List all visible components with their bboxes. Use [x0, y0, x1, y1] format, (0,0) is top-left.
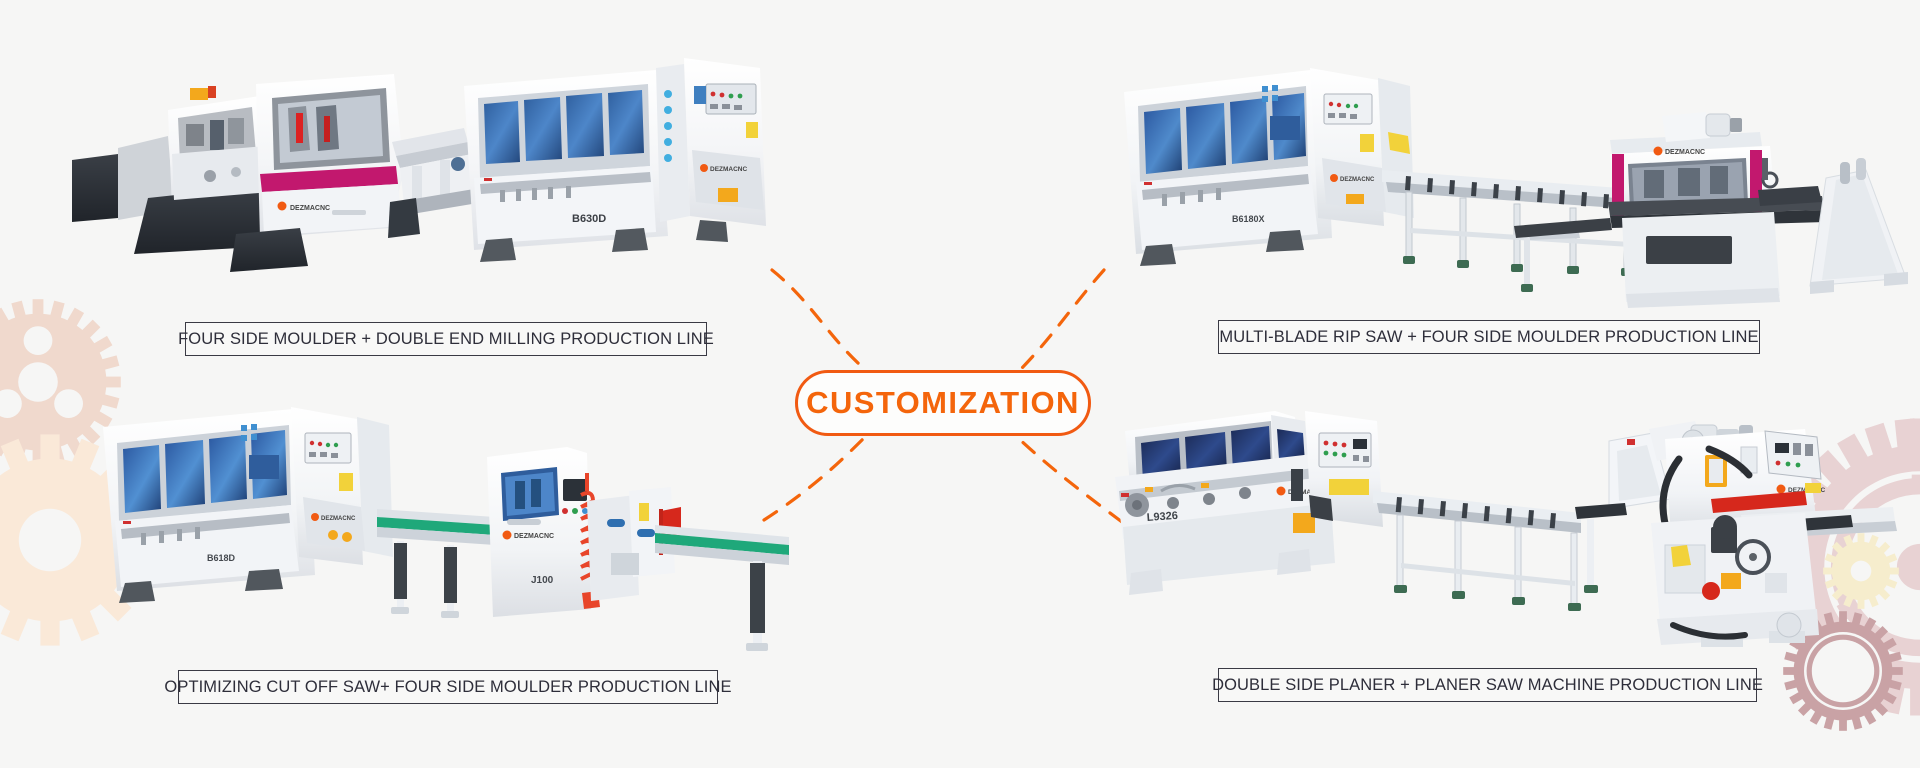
machine-illustration-top-left: DEZMACNC: [60, 50, 780, 315]
caption-label: OPTIMIZING CUT OFF SAW+ FOUR SIDE MOULDE…: [164, 678, 731, 697]
caption-label: DOUBLE SIDE PLANER + PLANER SAW MACHINE …: [1212, 676, 1763, 695]
planer-saw-machine: DEZMACNC: [1609, 421, 1897, 647]
optimizing-cut-off-saw: DEZMACNC J100: [487, 447, 681, 617]
customization-badge[interactable]: CUSTOMIZATION: [795, 370, 1091, 436]
machine-model-label: B6180X: [1232, 214, 1265, 224]
red-knob: [1702, 582, 1720, 600]
connector-top-left: [772, 270, 868, 372]
roller-conveyor: [1373, 491, 1581, 611]
svg-text:DEZMACNC: DEZMACNC: [321, 516, 356, 522]
machine-illustration-bottom-left: B618D DEZMACNC: [95, 395, 795, 660]
double-side-planer: L9326 DEZMACNC: [1115, 411, 1383, 595]
caption-box-top-right[interactable]: MULTI-BLADE RIP SAW + FOUR SIDE MOULDER …: [1218, 320, 1760, 354]
four-side-moulder: B6180X DEZMACNC: [1124, 68, 1414, 266]
four-side-moulder: B630D DEZMACNC: [464, 58, 766, 262]
svg-text:DEZMACNC: DEZMACNC: [1340, 177, 1375, 183]
caption-box-top-left[interactable]: FOUR SIDE MOULDER + DOUBLE END MILLING P…: [185, 322, 707, 356]
svg-text:DEZMACNC: DEZMACNC: [514, 533, 554, 540]
svg-text:DEZMACNC: DEZMACNC: [710, 166, 747, 173]
caption-label: MULTI-BLADE RIP SAW + FOUR SIDE MOULDER …: [1219, 328, 1758, 347]
belt-conveyor-outfeed: [655, 525, 789, 651]
infeed-table: [1575, 503, 1627, 593]
customization-diagram: DEZMACNC: [0, 0, 1920, 768]
machine-illustration-top-right: B6180X DEZMACNC: [1110, 50, 1910, 315]
machine-model-label: J100: [531, 575, 554, 586]
svg-text:DEZMACNC: DEZMACNC: [1665, 149, 1705, 156]
caption-label: FOUR SIDE MOULDER + DOUBLE END MILLING P…: [178, 330, 714, 349]
svg-text:DEZMACNC: DEZMACNC: [290, 205, 330, 212]
a-frame-support-stand: [1810, 158, 1908, 294]
four-side-moulder: B618D DEZMACNC: [103, 407, 393, 603]
double-end-milling-machine: [72, 86, 276, 254]
multi-blade-rip-saw: DEZMACNC: [1514, 112, 1826, 308]
customization-label: CUSTOMIZATION: [806, 385, 1080, 421]
connector-top-right: [1018, 270, 1104, 372]
machine-illustration-bottom-right: L9326 DEZMACNC: [1105, 395, 1905, 660]
machine-model-label: B630D: [572, 213, 606, 225]
caption-box-bottom-left[interactable]: OPTIMIZING CUT OFF SAW+ FOUR SIDE MOULDE…: [178, 670, 718, 704]
belt-conveyor: [377, 509, 495, 618]
machine-model-label: B618D: [207, 553, 236, 563]
caption-box-bottom-right[interactable]: DOUBLE SIDE PLANER + PLANER SAW MACHINE …: [1218, 668, 1757, 702]
